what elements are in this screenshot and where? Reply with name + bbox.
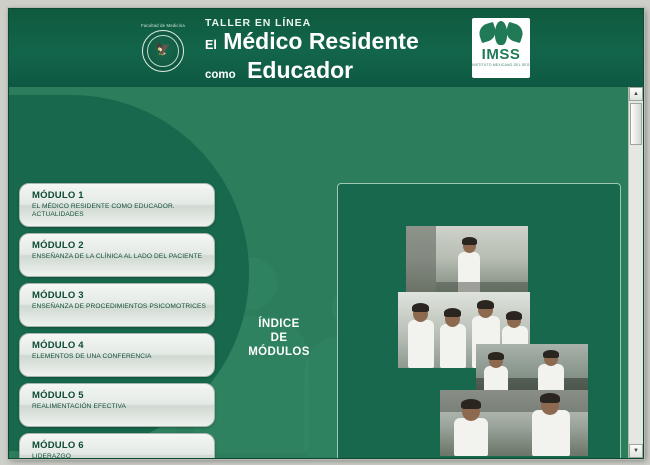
module-title: MÓDULO 4 (32, 340, 206, 351)
module-button-1[interactable]: MÓDULO 1 EL MÉDICO RESIDENTE COMO EDUCAD… (19, 183, 215, 227)
page-header: Facultad de Medicina 🦅 TALLER EN LÍNEA E… (9, 9, 643, 88)
scrollbar-thumb[interactable] (630, 103, 642, 145)
module-title: MÓDULO 2 (32, 240, 206, 251)
imss-logo-subtitle: INSTITUTO MEXICANO DEL SEGURO SOCIAL (472, 62, 530, 68)
index-title-line3: MÓDULOS (231, 345, 327, 359)
vertical-scrollbar[interactable]: ▲ ▼ (628, 87, 643, 458)
unam-logo: Facultad de Medicina 🦅 (137, 23, 189, 75)
imss-logo: IMSS INSTITUTO MEXICANO DEL SEGURO SOCIA… (472, 18, 530, 78)
content-panel: PRESENTACIÓN TUTORES CALENDARIO (337, 183, 621, 458)
imss-eagle-icon (478, 21, 524, 47)
unam-seal-icon: 🦅 (142, 30, 184, 72)
title-main-text: Médico Residente (223, 28, 419, 54)
module-subtitle: ENSEÑANZA DE LA CLÍNICA AL LADO DEL PACI… (32, 253, 206, 261)
module-button-4[interactable]: MÓDULO 4 ELEMENTOS DE UNA CONFERENCIA (19, 333, 215, 377)
module-list: MÓDULO 1 EL MÉDICO RESIDENTE COMO EDUCAD… (19, 183, 215, 458)
main-stage: ÍNDICE DE MÓDULOS MÓDULO 1 EL MÉDICO RES… (9, 87, 629, 458)
module-subtitle: EL MÉDICO RESIDENTE COMO EDUCADOR. ACTUA… (32, 203, 206, 220)
scroll-down-button[interactable]: ▼ (629, 444, 643, 458)
module-title: MÓDULO 6 (32, 440, 206, 451)
application-window: Facultad de Medicina 🦅 TALLER EN LÍNEA E… (8, 8, 644, 459)
index-title-line1: ÍNDICE (231, 317, 327, 331)
module-subtitle: ELEMENTOS DE UNA CONFERENCIA (32, 353, 206, 361)
module-subtitle: REALIMENTACIÓN EFECTIVA (32, 403, 206, 411)
unam-logo-caption: Facultad de Medicina (137, 23, 189, 29)
module-title: MÓDULO 3 (32, 290, 206, 301)
module-subtitle: ENSEÑANZA DE PROCEDIMIENTOS PSICOMOTRICE… (32, 303, 206, 311)
title-como: como (205, 69, 241, 81)
module-button-2[interactable]: MÓDULO 2 ENSEÑANZA DE LA CLÍNICA AL LADO… (19, 233, 215, 277)
page-title: TALLER EN LÍNEA El Médico Residente como… (205, 17, 467, 87)
index-title-line2: DE (231, 331, 327, 345)
title-main-line1: El Médico Residente (205, 30, 467, 57)
module-button-5[interactable]: MÓDULO 5 REALIMENTACIÓN EFECTIVA (19, 383, 215, 427)
scroll-up-button[interactable]: ▲ (629, 87, 643, 101)
module-button-6[interactable]: MÓDULO 6 LIDERAZGO (19, 433, 215, 458)
scrollbar-track[interactable] (629, 101, 643, 444)
photo-examination (440, 390, 588, 456)
title-main-line2: como Educador (205, 58, 467, 87)
module-title: MÓDULO 1 (32, 190, 206, 201)
index-title: ÍNDICE DE MÓDULOS (231, 317, 327, 359)
module-subtitle: LIDERAZGO (32, 453, 206, 458)
photo-collage (378, 226, 588, 456)
title-educador: Educador (247, 57, 353, 83)
module-title: MÓDULO 5 (32, 390, 206, 401)
title-article: El (205, 38, 217, 52)
module-button-3[interactable]: MÓDULO 3 ENSEÑANZA DE PROCEDIMIENTOS PSI… (19, 283, 215, 327)
imss-logo-text: IMSS (472, 47, 530, 62)
